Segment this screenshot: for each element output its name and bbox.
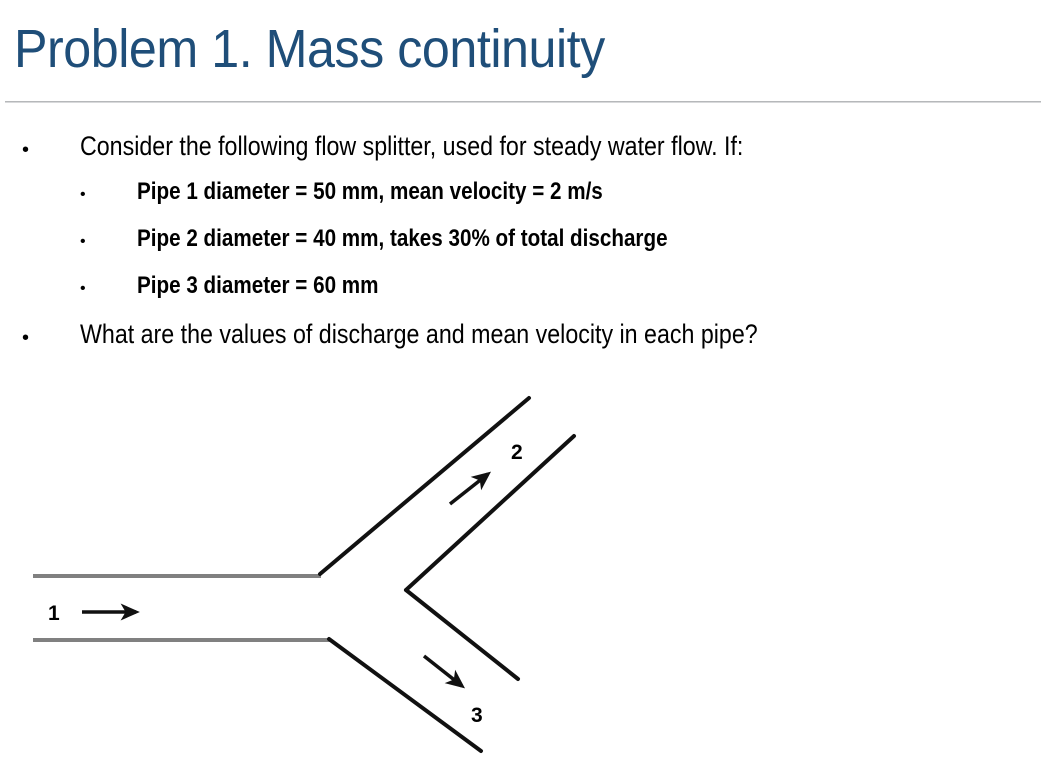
pipe-1-label: 1 [48, 602, 60, 625]
bullet-item-1: • Consider the following flow splitter, … [0, 128, 1047, 175]
bullet-marker-icon: • [80, 222, 137, 250]
bullet-item-3: • Pipe 2 diameter = 40 mm, takes 30% of … [0, 222, 1047, 269]
bullet-marker-icon: • [80, 175, 137, 203]
bullet-item-label: Pipe 3 diameter = 60 mm [137, 269, 378, 303]
pipe-3-outer-wall [329, 639, 481, 751]
flow-splitter-diagram: 1 2 3 [0, 380, 620, 781]
bullet-item-2: • Pipe 1 diameter = 50 mm, mean velocity… [0, 175, 1047, 222]
bullet-marker-icon: • [22, 128, 80, 160]
bullet-item-label: What are the values of discharge and mea… [80, 316, 758, 352]
pipe-2-outer-wall [320, 398, 529, 574]
bullet-list: • Consider the following flow splitter, … [0, 128, 1047, 363]
pipe-3-inner-wall [406, 590, 518, 679]
bullet-item-5: • What are the values of discharge and m… [0, 316, 1047, 363]
bullet-marker-icon: • [22, 316, 80, 348]
title-divider [5, 101, 1041, 103]
bullet-item-label: Consider the following flow splitter, us… [80, 128, 743, 164]
flow-arrow-2 [450, 474, 488, 504]
flow-arrow-3 [424, 656, 462, 686]
pipe-3-label: 3 [471, 704, 483, 727]
pipe-2-label: 2 [511, 441, 523, 464]
page-title: Problem 1. Mass continuity [14, 8, 953, 90]
bullet-marker-icon: • [80, 269, 137, 297]
bullet-item-4: • Pipe 3 diameter = 60 mm [0, 269, 1047, 316]
bullet-item-label: Pipe 2 diameter = 40 mm, takes 30% of to… [137, 222, 668, 256]
pipe-2-inner-wall [406, 436, 574, 590]
bullet-item-label: Pipe 1 diameter = 50 mm, mean velocity =… [137, 175, 603, 209]
